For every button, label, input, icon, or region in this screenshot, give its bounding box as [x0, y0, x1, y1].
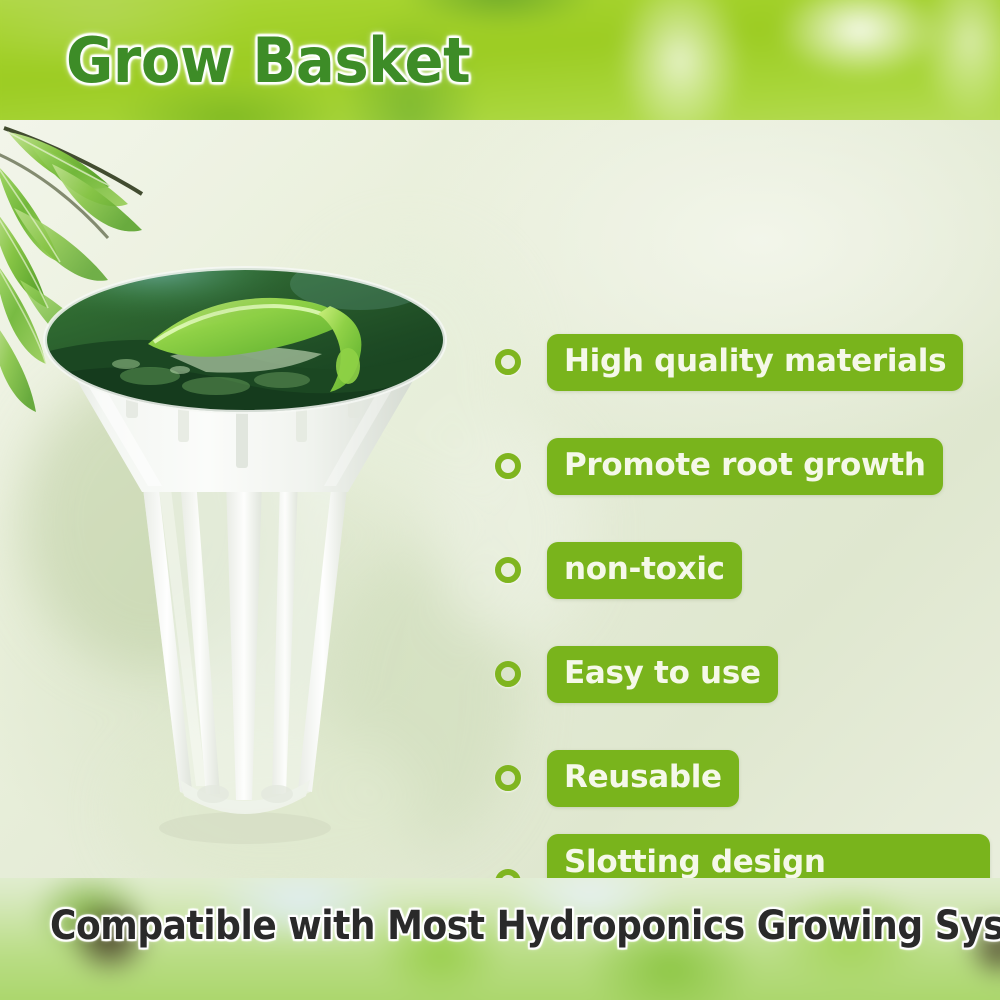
product-image — [30, 180, 460, 860]
feature-item[interactable]: Promote root growth — [495, 414, 990, 518]
compatibility-caption: Compatible with Most Hydroponics Growing… — [50, 902, 950, 950]
product-infographic: Grow Basket — [0, 0, 1000, 1000]
bottom-band: Compatible with Most Hydroponics Growing… — [0, 878, 1000, 1000]
feature-label: Promote root growth — [547, 438, 943, 495]
feature-label: High quality materials — [547, 334, 963, 391]
feature-label: Slotting design promotes root growth — [547, 834, 990, 879]
ring-circle-icon — [495, 453, 521, 479]
ring-circle-icon — [495, 765, 521, 791]
feature-item[interactable]: non-toxic — [495, 518, 990, 622]
basket-lid — [30, 244, 445, 412]
feature-item[interactable]: Easy to use — [495, 622, 990, 726]
ring-circle-icon — [495, 349, 521, 375]
main-stage: High quality materials Promote root grow… — [0, 120, 1000, 878]
feature-label: Reusable — [547, 750, 739, 807]
feature-label: Easy to use — [547, 646, 778, 703]
ring-circle-icon — [495, 661, 521, 687]
feature-item[interactable]: High quality materials — [495, 310, 990, 414]
header-band: Grow Basket — [0, 0, 1000, 120]
ring-circle-icon — [495, 869, 521, 878]
ring-circle-icon — [495, 557, 521, 583]
feature-item[interactable]: Reusable — [495, 726, 990, 830]
feature-item[interactable]: Slotting design promotes root growth — [495, 830, 990, 878]
page-title: Grow Basket — [66, 27, 470, 95]
basket-cage — [142, 480, 348, 814]
grow-basket-illustration — [30, 180, 460, 860]
feature-label: non-toxic — [547, 542, 742, 599]
feature-list: High quality materials Promote root grow… — [495, 310, 990, 878]
